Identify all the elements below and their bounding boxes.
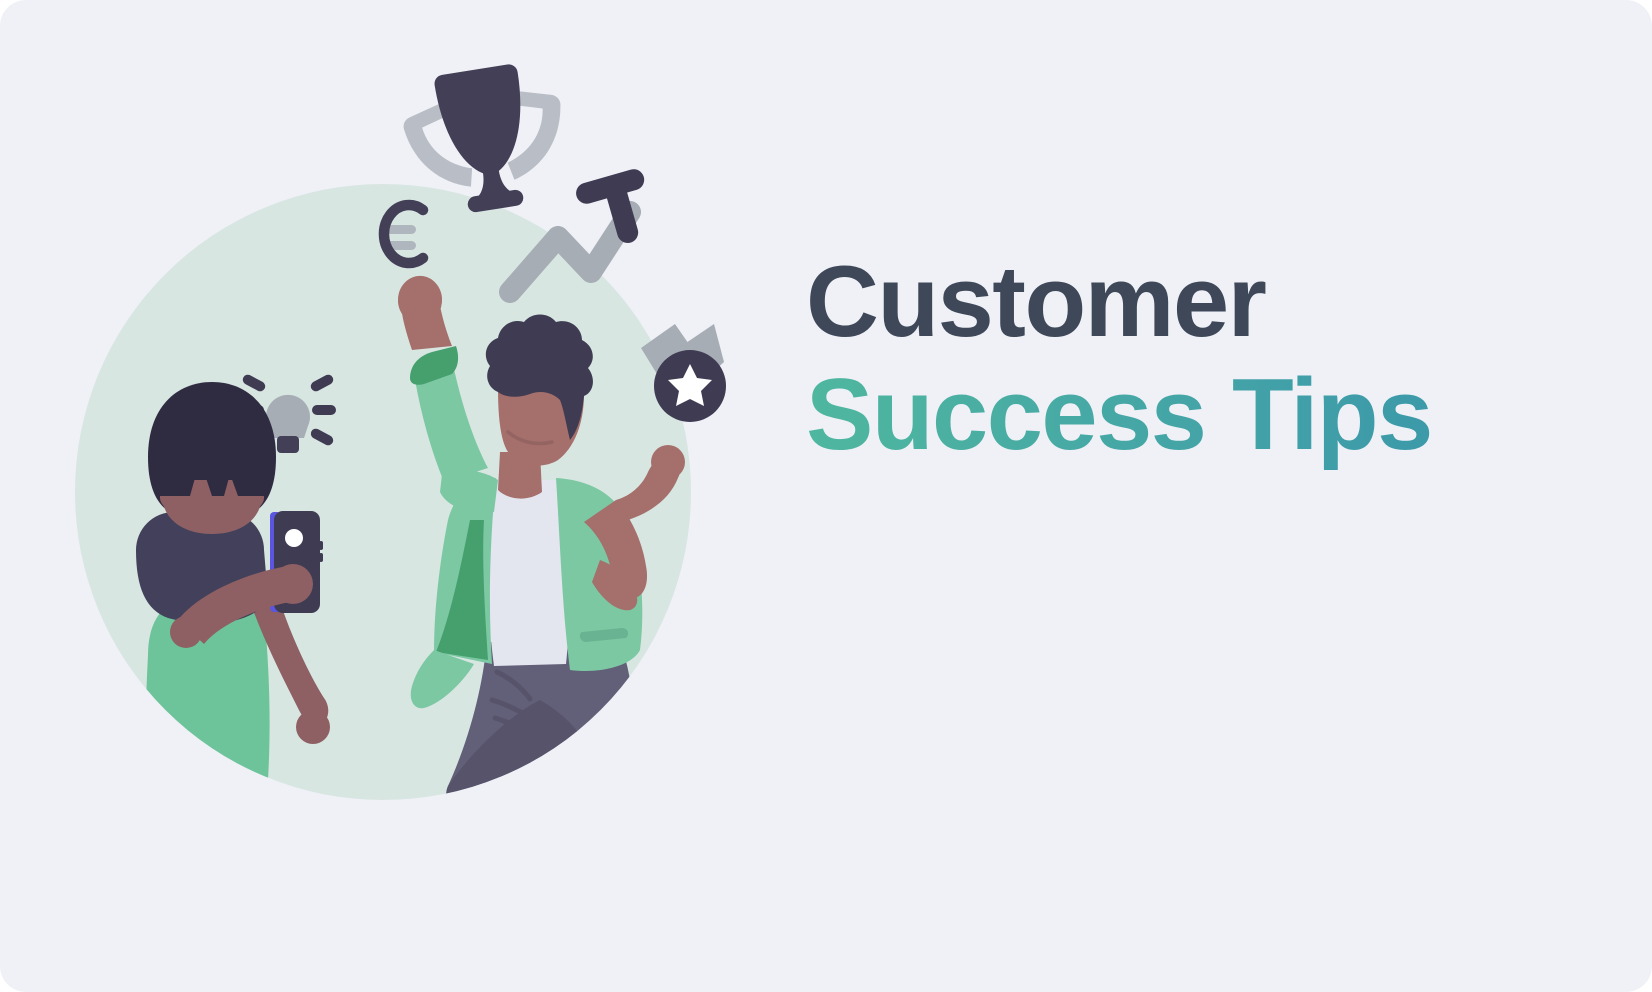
- banner-card: Customer Success Tips: [0, 0, 1652, 992]
- title-line-primary: Customer: [806, 246, 1566, 359]
- page-title: Customer Success Tips: [806, 246, 1566, 472]
- illustration-area: [0, 0, 800, 992]
- celebrating-team-illustration: [0, 0, 800, 992]
- title-line-accent: Success Tips: [806, 359, 1566, 472]
